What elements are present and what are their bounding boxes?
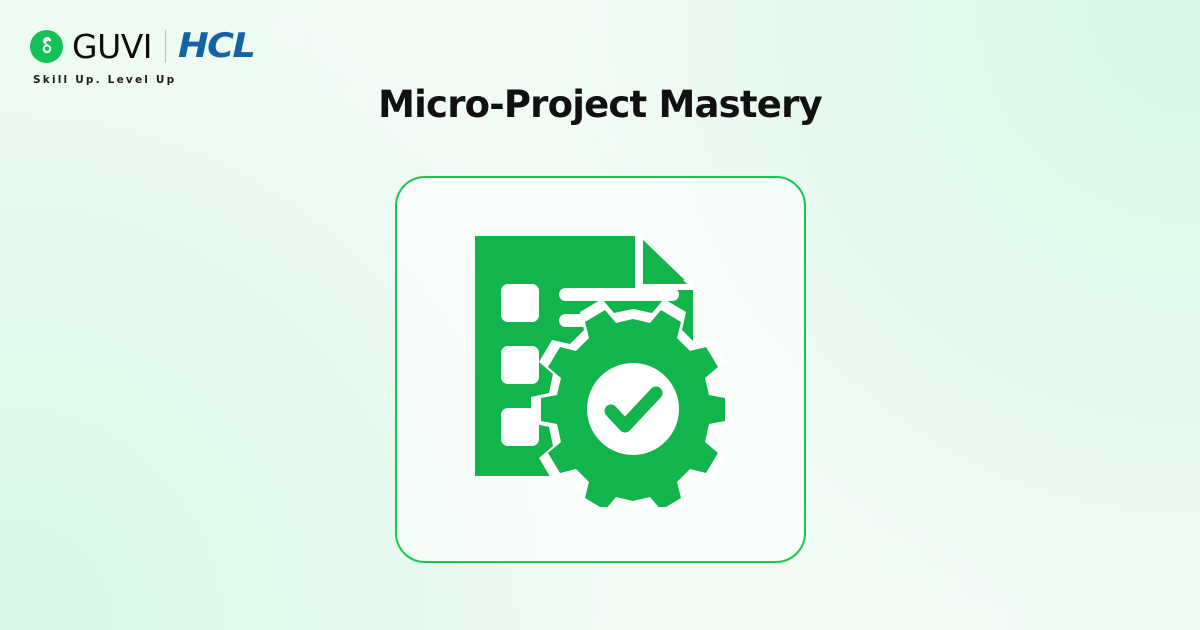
banner-canvas: GUVI HCL Skill Up. Level Up Micro-Projec… — [0, 0, 1200, 630]
page-title: Micro-Project Mastery — [0, 84, 1200, 127]
guvi-g-monogram-icon — [30, 30, 63, 63]
document-checklist-gear-check-icon — [471, 232, 731, 507]
hcl-wordmark: HCL — [178, 29, 254, 63]
logo-row: GUVI HCL — [30, 25, 330, 67]
brand-logo-lockup: GUVI HCL Skill Up. Level Up — [30, 25, 330, 86]
guvi-wordmark: GUVI — [72, 30, 152, 63]
feature-icon-card — [395, 176, 806, 563]
logo-divider — [165, 30, 166, 63]
